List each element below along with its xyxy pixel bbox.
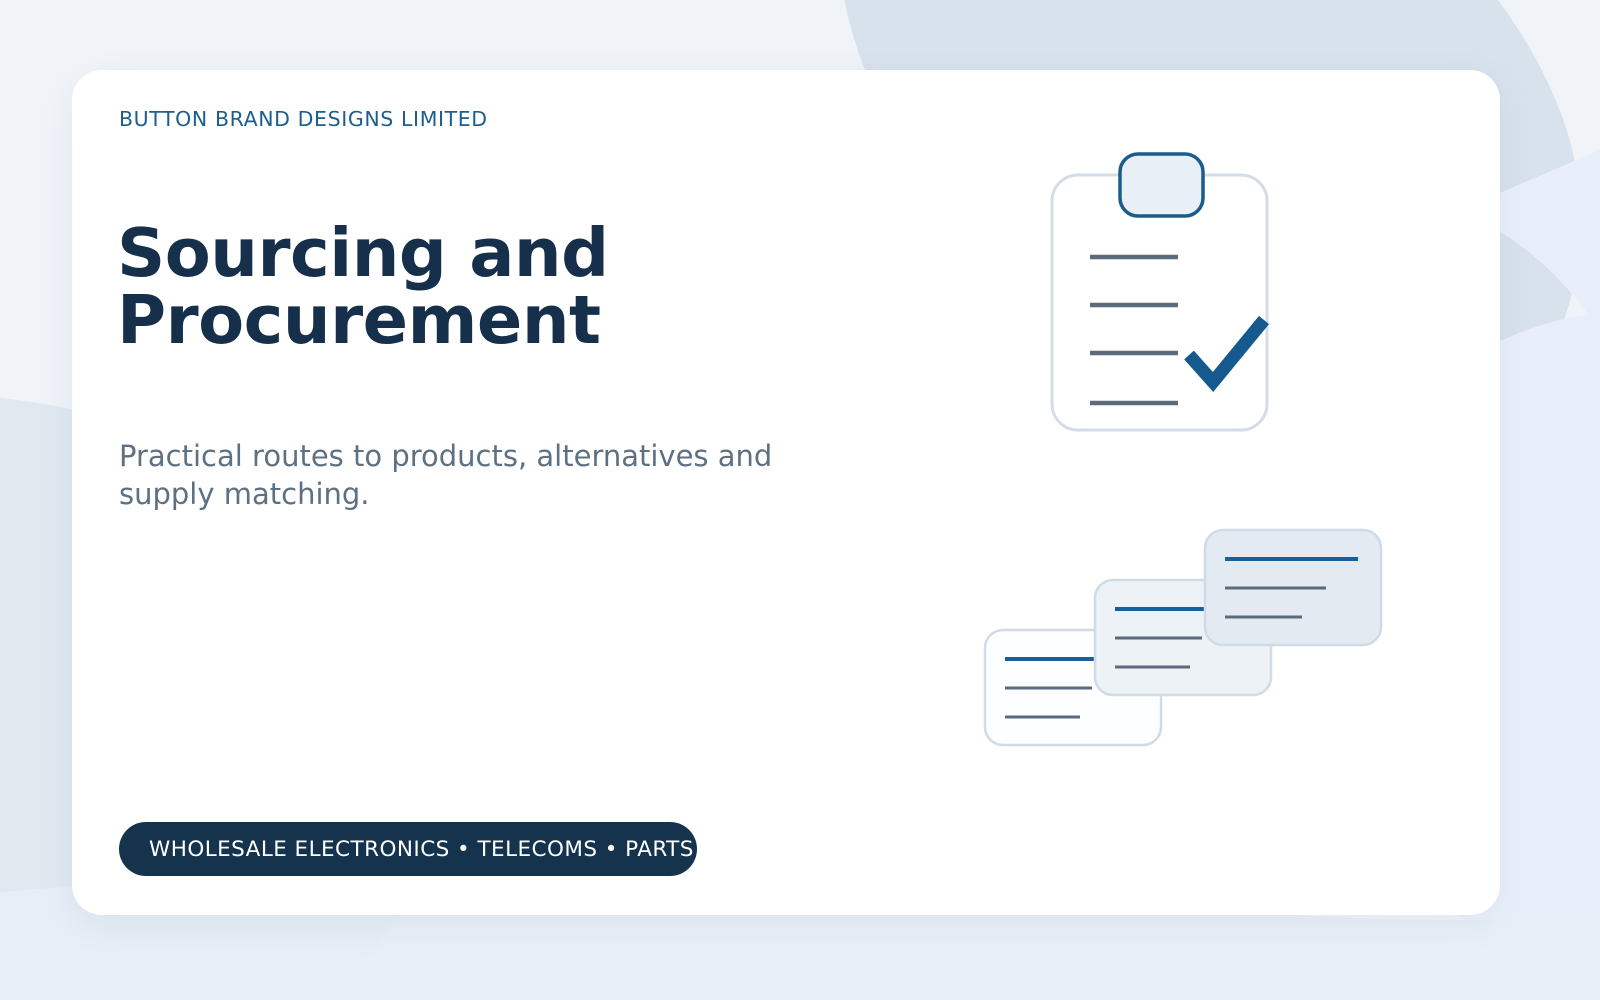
ticker-label: WHOLESALE ELECTRONICS • TELECOMS • PARTS… (149, 837, 697, 862)
company-eyebrow: BUTTON BRAND DESIGNS LIMITED (119, 107, 488, 131)
page-title: Sourcing and Procurement (117, 220, 757, 354)
page-subtitle: Practical routes to products, alternativ… (119, 438, 819, 513)
clipboard-clip (1120, 154, 1203, 216)
category-ticker-pill[interactable]: WHOLESALE ELECTRONICS • TELECOMS • PARTS… (119, 822, 697, 876)
slide-root: BUTTON BRAND DESIGNS LIMITED Sourcing an… (0, 0, 1600, 1000)
illustration-group (852, 70, 1500, 915)
content-card: BUTTON BRAND DESIGNS LIMITED Sourcing an… (72, 70, 1500, 915)
clipboard-icon (1052, 154, 1267, 430)
record-card-front (1205, 530, 1381, 645)
